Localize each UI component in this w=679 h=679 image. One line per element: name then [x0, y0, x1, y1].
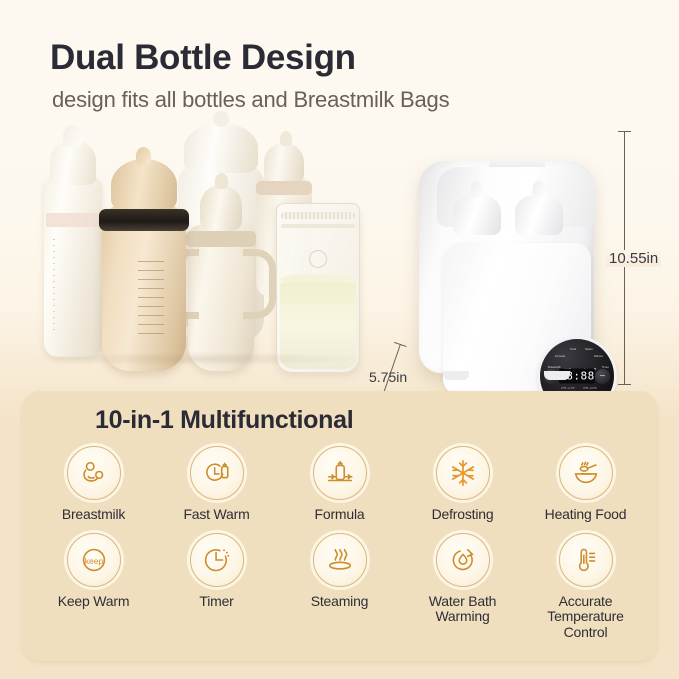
feature-defrosting: Defrosting [401, 446, 524, 523]
breastmilk-storage-bag [276, 203, 360, 373]
panel-label-formula: Formula [555, 355, 565, 358]
warmer-foot-left [443, 371, 469, 380]
panel-label-steam: Steam [585, 348, 593, 351]
clock-icon [190, 533, 244, 587]
panel-subrange-2: 95℉~104℉ [583, 387, 597, 390]
panel-subrange-1: 95℉~122℉ [561, 387, 575, 390]
feature-label: Defrosting [432, 507, 494, 523]
page-title: Dual Bottle Design [50, 38, 356, 78]
warmer-bottle-left [453, 195, 501, 235]
bottle-nipple-tip [280, 131, 292, 146]
thermometer-icon [559, 533, 613, 587]
bag-logo-icon [309, 250, 327, 268]
formula-bottle-icon [313, 446, 367, 500]
feature-water-bath-warming: Water Bath Warming [401, 533, 524, 641]
bottle-collar [256, 181, 312, 195]
breastfeeding-icon [67, 446, 121, 500]
feature-accurate-temperature-control: Accurate Temperature Control [524, 533, 647, 641]
feature-label: Accurate Temperature Control [547, 594, 623, 641]
panel-label-food: Food [570, 348, 576, 351]
bottle-measure-scale [53, 239, 55, 335]
keep-icon: keep [67, 533, 121, 587]
bottle-nipple [184, 123, 258, 173]
bag-zipper [281, 212, 355, 219]
features-panel: 10-in-1 Multifunctional Breastmilk [22, 391, 657, 661]
warmer-bottle-right [515, 195, 563, 235]
features-grid: Breastmilk Fast Warm [32, 446, 647, 641]
warmer-foot-right [544, 371, 570, 380]
feature-label: Water Bath Warming [429, 594, 497, 625]
feature-label: Formula [315, 507, 365, 523]
decrease-button[interactable]: − [595, 369, 610, 384]
feature-keep-warm: keep Keep Warm [32, 533, 155, 641]
feature-label: Heating Food [545, 507, 627, 523]
water-drop-flame-icon [436, 533, 490, 587]
panel-label-defrost: Defrost [594, 355, 603, 358]
feature-fast-warm: Fast Warm [155, 446, 278, 523]
warmer-body: Food Steam Formula Defrost Breastmilk Ti… [419, 161, 594, 373]
feature-steaming: Steaming [278, 533, 401, 641]
fast-warm-bottle-icon [190, 446, 244, 500]
bottle-nipple-tip [136, 147, 151, 165]
feature-label: Fast Warm [183, 507, 249, 523]
feature-breastmilk: Breastmilk [32, 446, 155, 523]
bottle-nipple-tip [215, 173, 228, 189]
bag-seal [281, 224, 355, 228]
feature-label: Breastmilk [62, 507, 125, 523]
feature-timer: Timer [155, 533, 278, 641]
snowflake-icon [436, 446, 490, 500]
bottle-shadow [34, 352, 364, 366]
bottle-measure-scale [138, 261, 164, 337]
bottle-lineup-image [28, 155, 378, 370]
bottle-nipple-tip [63, 125, 83, 147]
feature-formula: Formula [278, 446, 401, 523]
bottle-nipple [50, 141, 96, 185]
bottle-handle-right [243, 249, 276, 319]
bottle-dark-collar [99, 209, 189, 231]
height-dimension-label: 10.55in [606, 250, 661, 267]
bottle-nipple [264, 143, 304, 183]
steam-icon [313, 533, 367, 587]
feature-heating-food: Heating Food [524, 446, 647, 523]
bottle-nipple-tip [213, 111, 229, 127]
bottle-warmer-product-image: Food Steam Formula Defrost Breastmilk Ti… [409, 133, 604, 385]
bottle-beige-wide-neck [102, 203, 186, 371]
features-heading: 10-in-1 Multifunctional [95, 406, 353, 435]
svg-text:keep: keep [84, 555, 103, 565]
bowl-spoon-icon [559, 446, 613, 500]
feature-label: Keep Warm [58, 594, 130, 610]
page-subtitle: design fits all bottles and Breastmilk B… [52, 87, 449, 113]
bottle-collar [186, 231, 256, 247]
bottle-handled [188, 225, 254, 371]
bottle-collar [46, 213, 100, 227]
bottle-nipple [111, 159, 177, 211]
feature-label: Steaming [311, 594, 369, 610]
depth-dimension-label: 5.75in [369, 369, 407, 385]
bottle-nipple [200, 185, 242, 231]
feature-label: Timer [199, 594, 233, 610]
product-infographic: Dual Bottle Design design fits all bottl… [0, 0, 679, 679]
bottle-clear-tall [44, 177, 102, 357]
